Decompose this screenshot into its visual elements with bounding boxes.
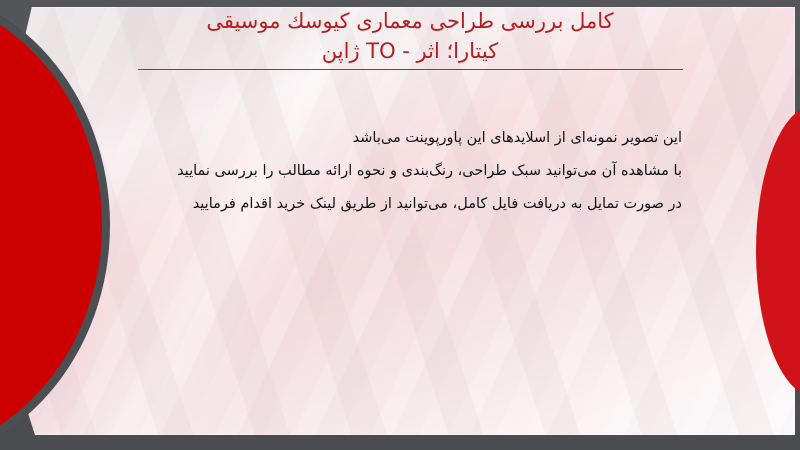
background-streaks-secondary xyxy=(0,7,795,435)
slide-title: کامل بررسی طراحی معماری کیوسك موسیقی کیت… xyxy=(130,6,690,70)
title-line-1: کامل بررسی طراحی معماری کیوسك موسیقی xyxy=(130,6,690,36)
title-underline xyxy=(138,69,683,70)
presentation-slide: کامل بررسی طراحی معماری کیوسك موسیقی کیت… xyxy=(0,0,800,450)
title-line-2: کیتارا؛ اثر - TO ژاپن xyxy=(130,36,690,66)
background-streaks-primary xyxy=(0,7,795,435)
body-line-3: در صورت تمایل به دریافت فایل کامل، می‌تو… xyxy=(97,188,682,221)
body-line-1: این تصویر نمونه‌ای از اسلایدهای این پاور… xyxy=(97,122,682,155)
slide-content-panel xyxy=(0,7,795,435)
body-line-2: با مشاهده آن می‌توانید سبک طراحی، رنگ‌بن… xyxy=(97,155,682,188)
slide-body-text: این تصویر نمونه‌ای از اسلایدهای این پاور… xyxy=(97,122,682,221)
